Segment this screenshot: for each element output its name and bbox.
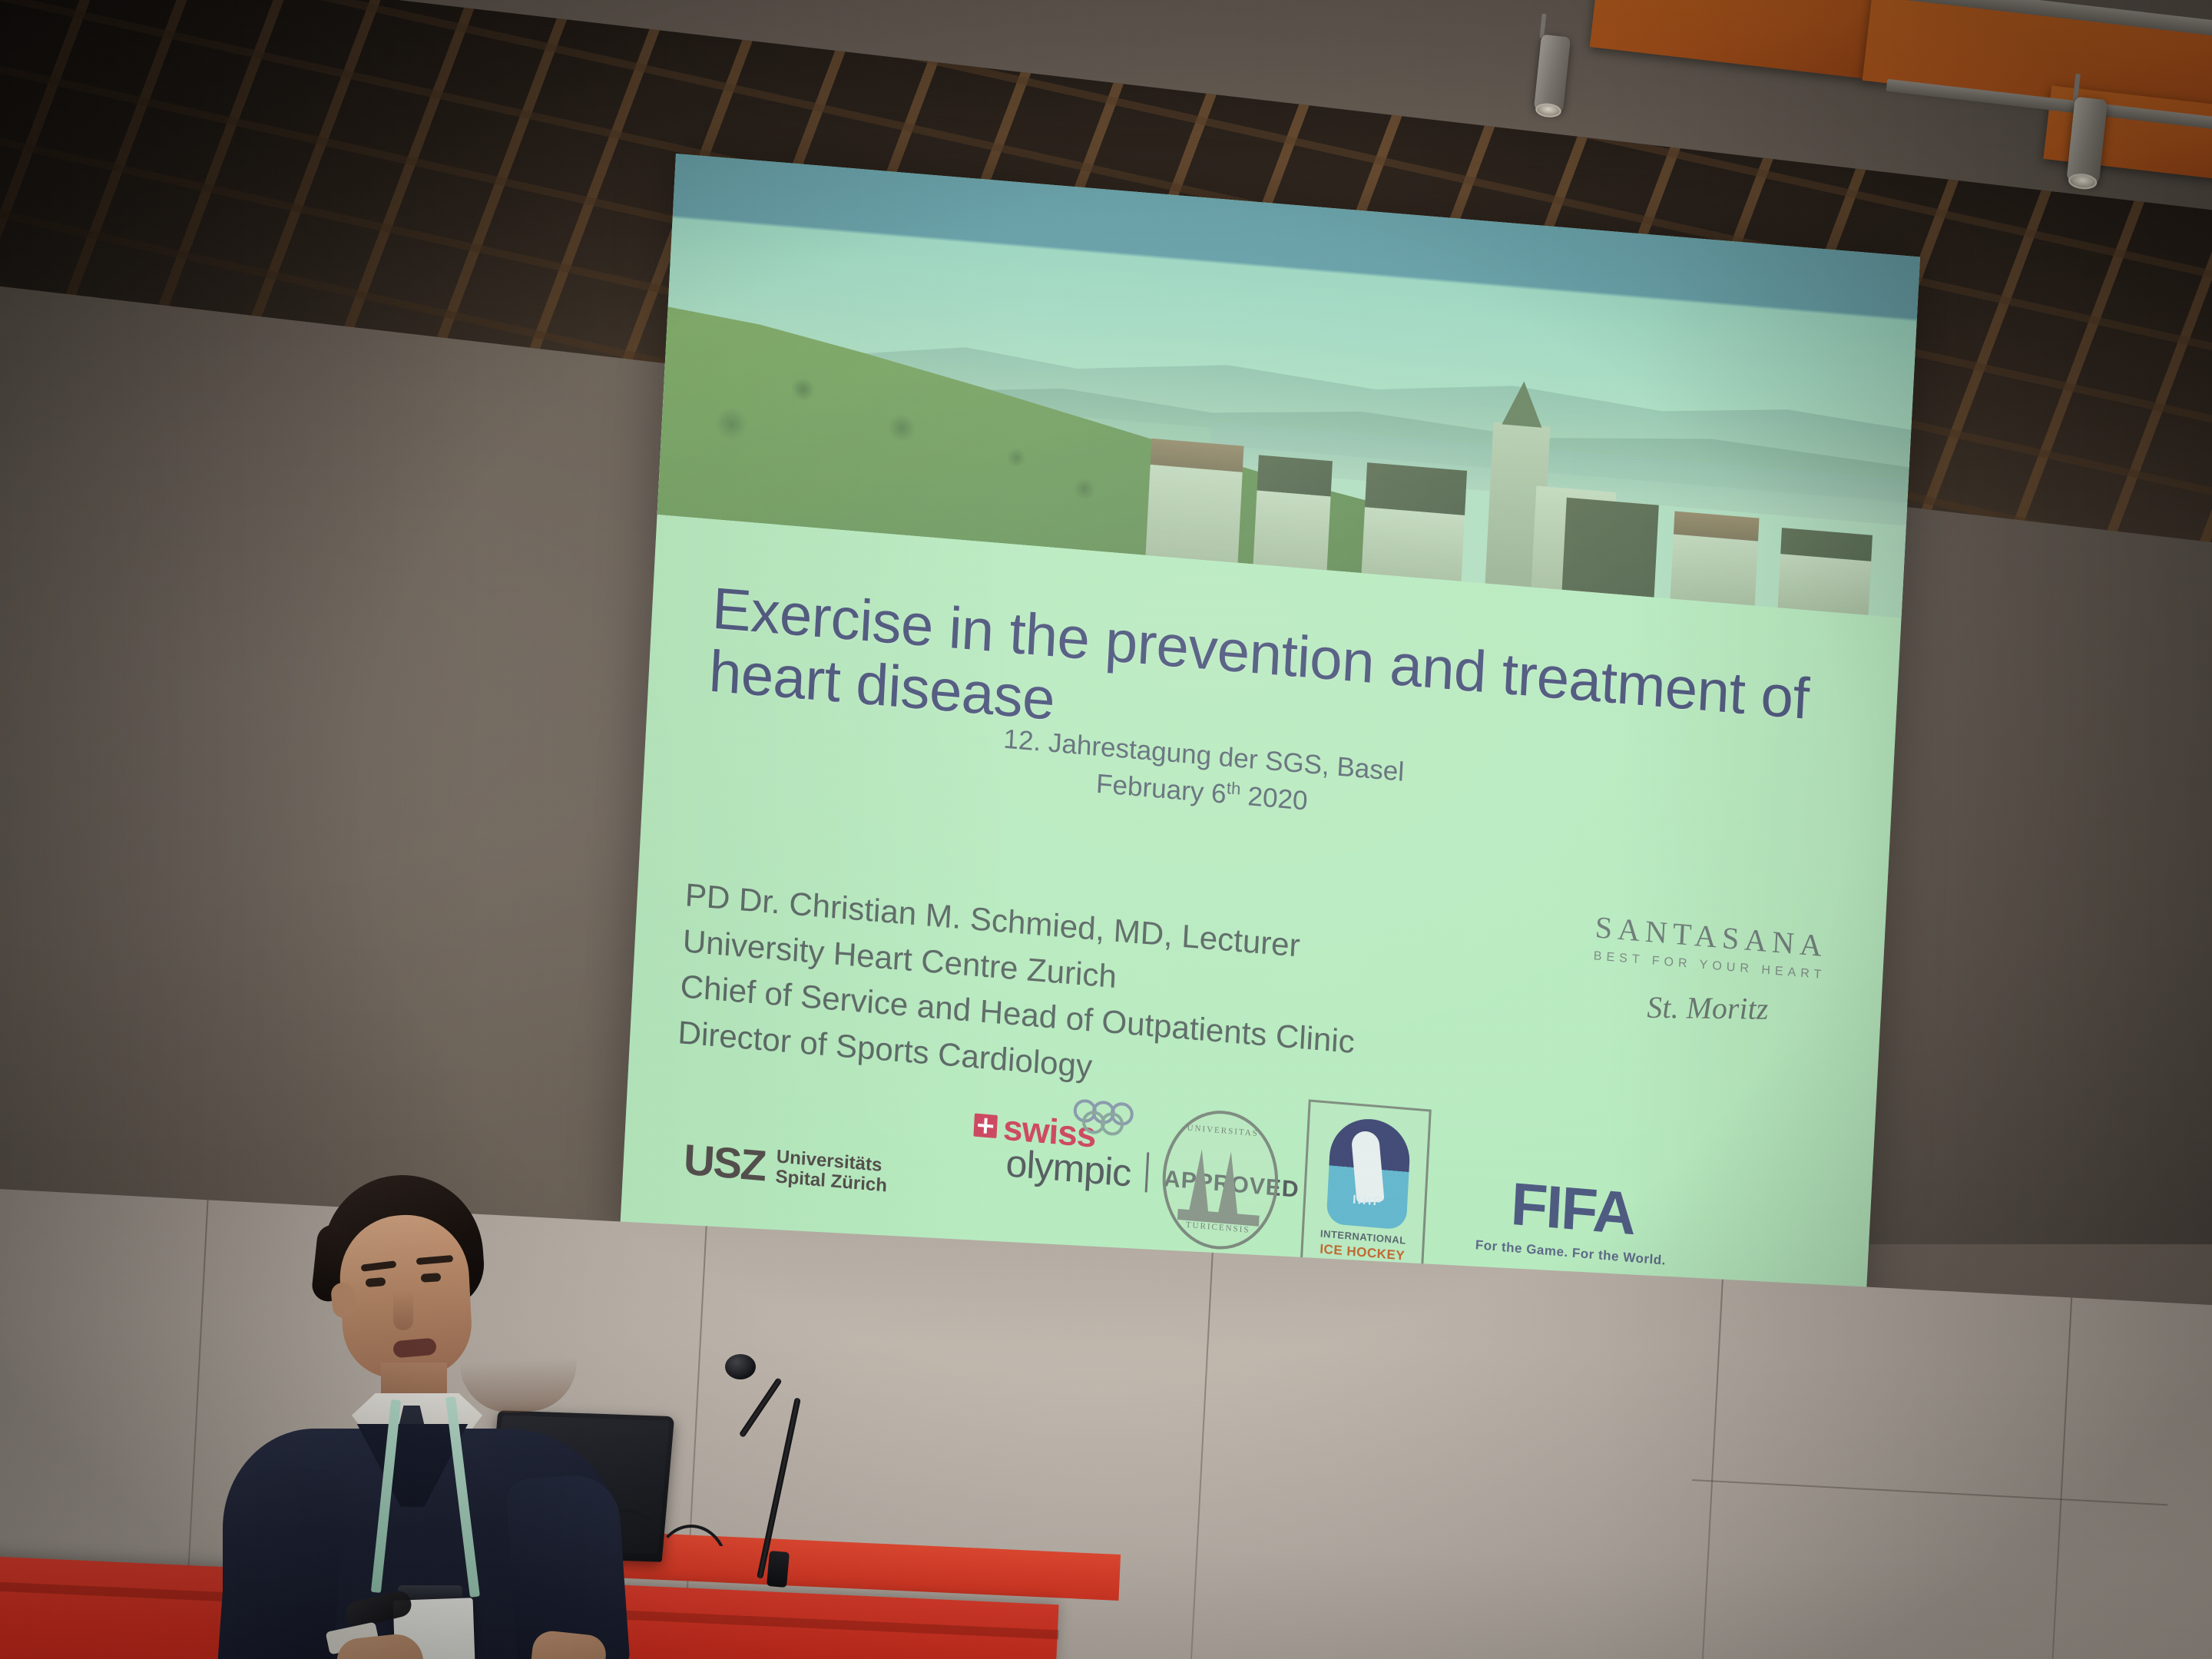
microphone-head-icon <box>725 1354 756 1379</box>
university-zurich-seal: UNIVERSITAS TURICENSIS <box>1159 1106 1281 1253</box>
usz-mark: USZ <box>683 1134 767 1190</box>
right-arm <box>505 1472 630 1659</box>
eye <box>421 1273 442 1283</box>
st-moritz-script: St. Moritz <box>1581 988 1835 1028</box>
presenter <box>230 1175 630 1659</box>
olympic-word: olympic <box>1005 1141 1132 1195</box>
usz-subtitle: Universitäts Spital Zürich <box>775 1147 889 1196</box>
conference-hall-photo: Exercise in the prevention and treatment… <box>0 0 2212 1659</box>
microphone-base <box>767 1551 790 1588</box>
presentation-slide: Exercise in the prevention and treatment… <box>619 154 1920 1347</box>
left-arm <box>217 1463 346 1659</box>
usz-logo: USZ Universitäts Spital Zürich <box>683 1134 889 1200</box>
presenter-credentials: PD Dr. Christian M. Schmied, MD, Lecture… <box>677 872 1531 1125</box>
fifa-logo: FIFA For the Game. For the World. <box>1475 1166 1670 1269</box>
fifa-word: FIFA <box>1476 1166 1671 1252</box>
iihf-abbrev: IIHF <box>1327 1191 1408 1212</box>
santasana-logo: SANTASANA BEST FOR YOUR HEART St. Moritz <box>1580 908 1839 1036</box>
nose <box>393 1290 413 1330</box>
swiss-flag-icon <box>973 1114 998 1138</box>
iihf-logo: IIHF INTERNATIONAL ICE HOCKEY FEDERATION <box>1300 1099 1432 1284</box>
projection-screen: Exercise in the prevention and treatment… <box>619 154 1920 1347</box>
